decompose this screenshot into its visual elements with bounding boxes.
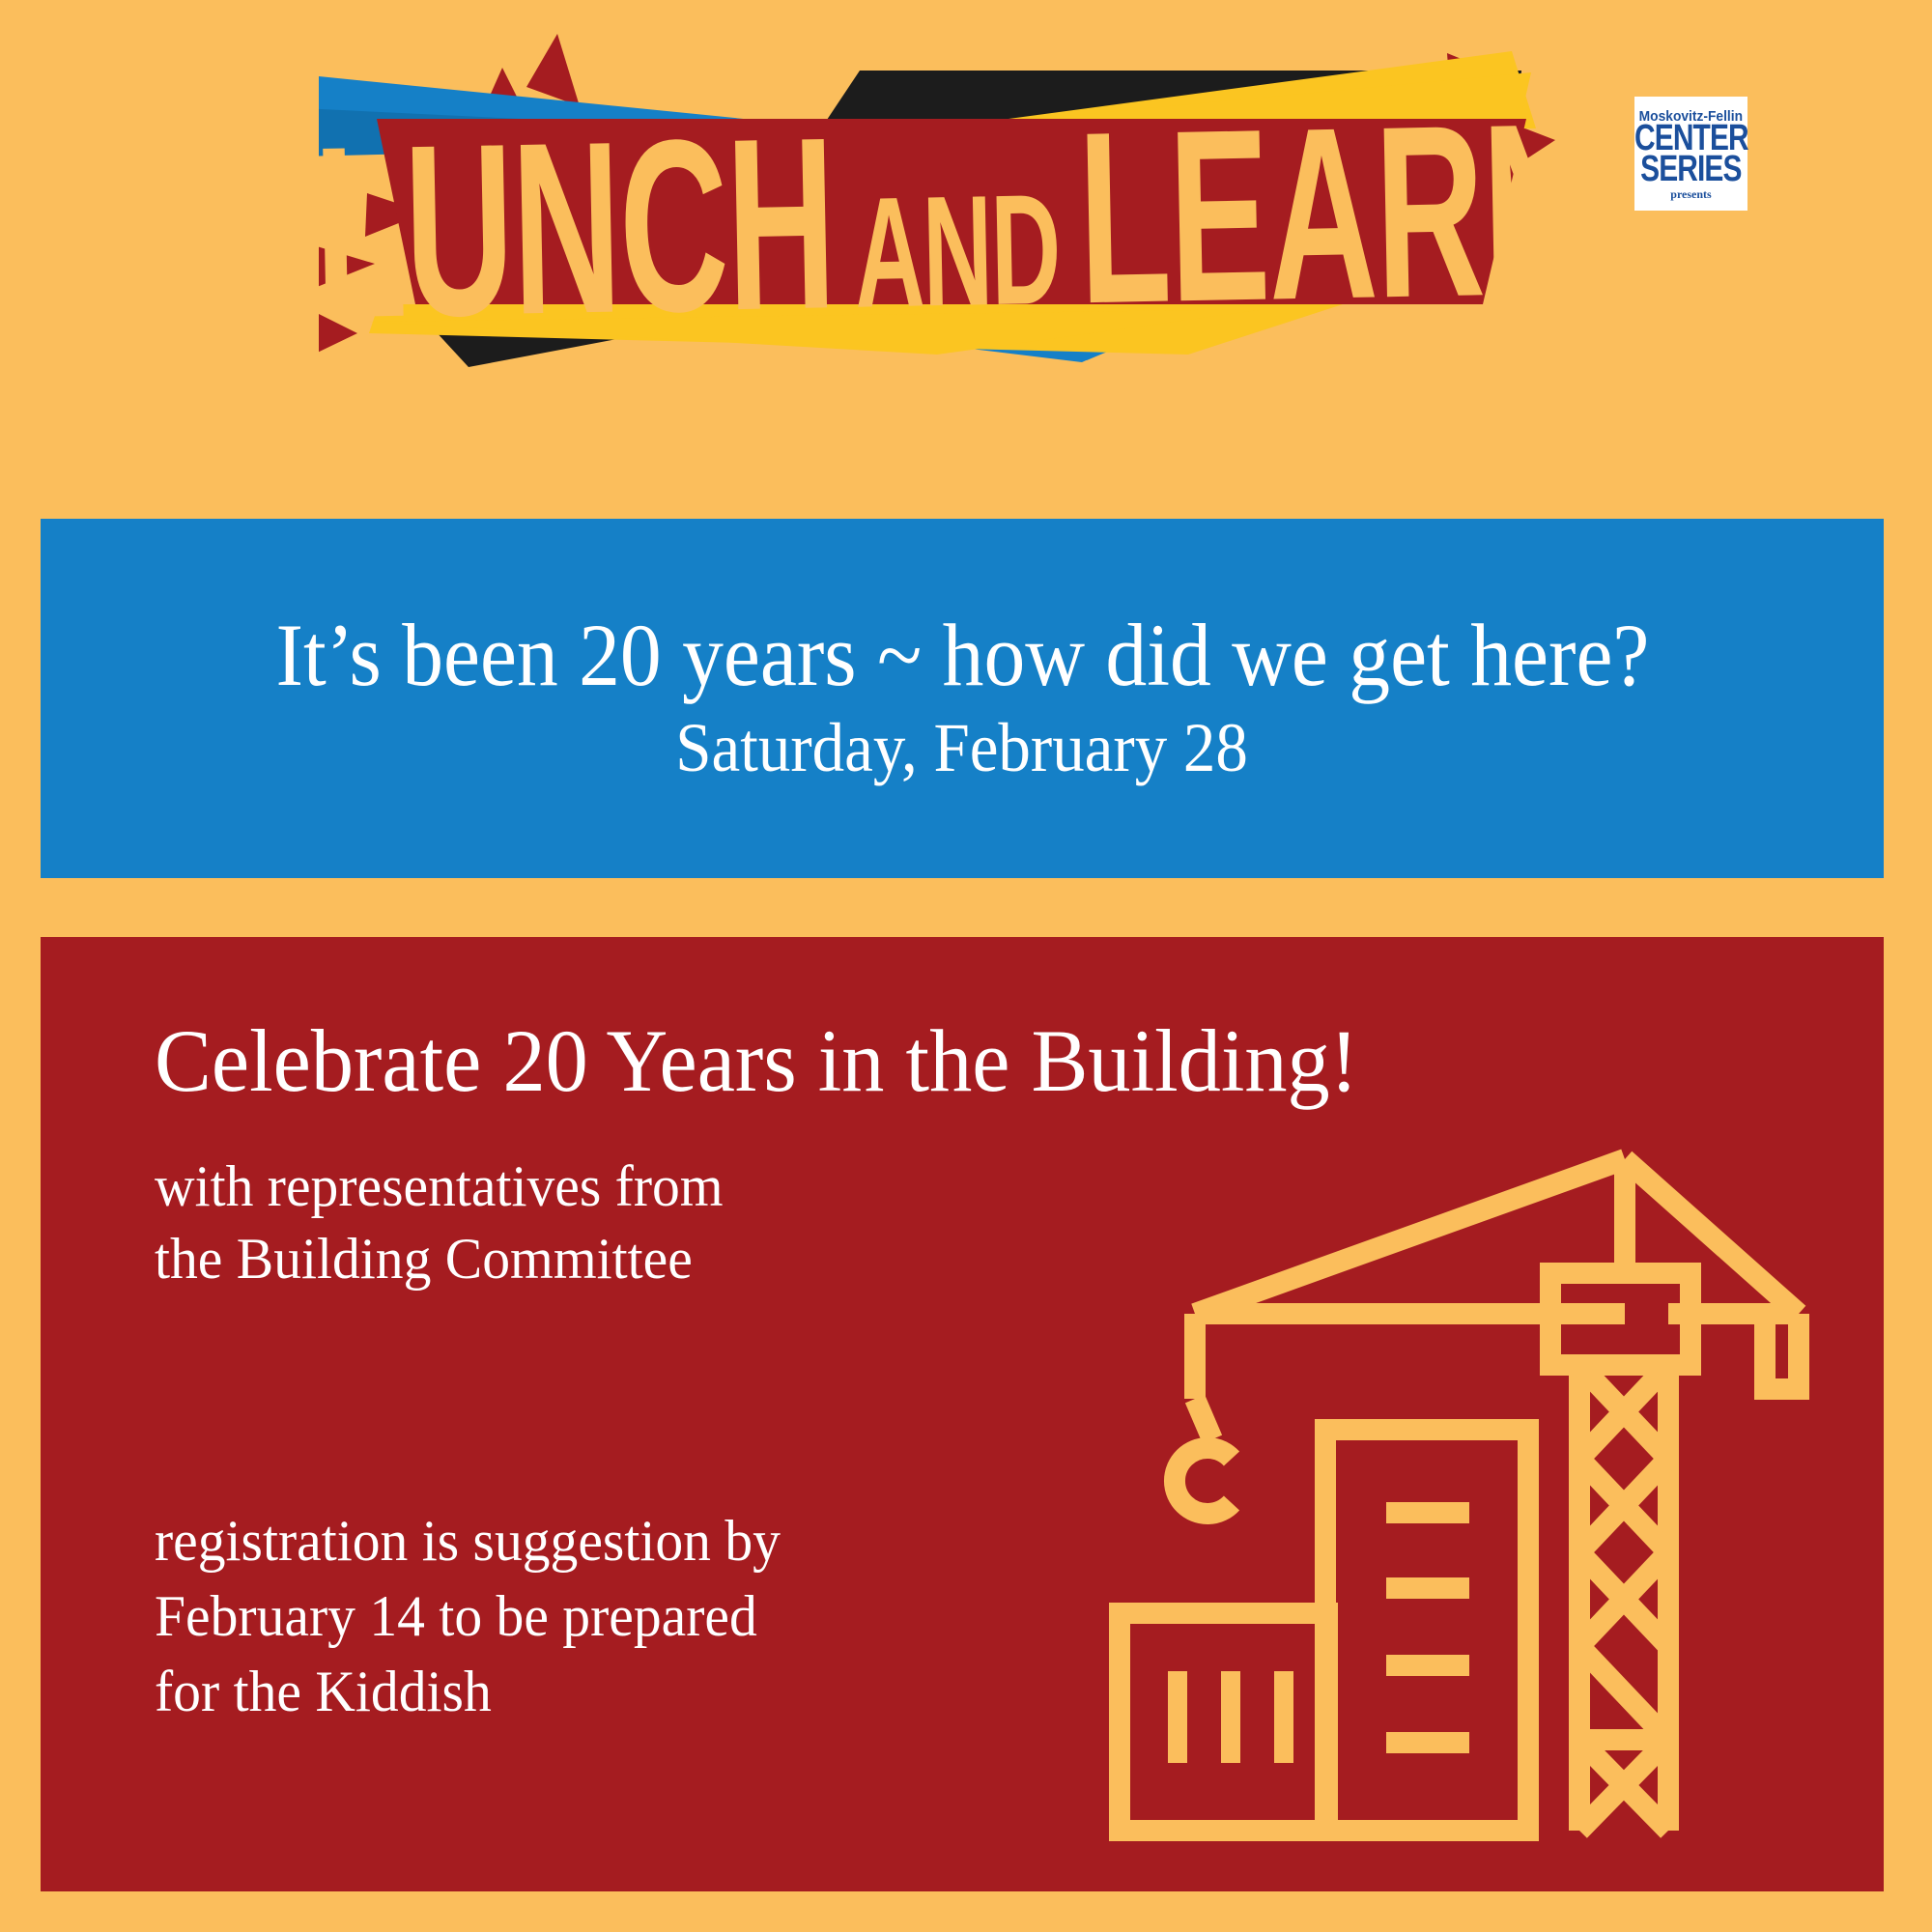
- registration-line2: February 14 to be prepared: [155, 1578, 1193, 1654]
- ribbon-shape: [377, 119, 1526, 304]
- registration-line3: for the Kiddish: [155, 1654, 1193, 1729]
- banner-graphic: [319, 14, 1584, 401]
- registration-note: registration is suggestion by February 1…: [155, 1503, 1193, 1729]
- registration-line1: registration is suggestion by: [155, 1503, 1193, 1578]
- logo-series-word: SERIES: [1640, 153, 1741, 186]
- event-headline: It’s been 20 years ~ how did we get here…: [275, 609, 1649, 702]
- tall-building-windows: [1386, 1502, 1469, 1753]
- event-details-copy: Celebrate 20 Years in the Building! with…: [155, 1014, 1236, 1295]
- construction-crane-icon: [1089, 1130, 1823, 1864]
- center-series-logo: Moskovitz-Fellin CENTER SERIES presents: [1634, 97, 1747, 211]
- event-details-block: Celebrate 20 Years in the Building! with…: [41, 937, 1884, 1891]
- short-building-windows: [1168, 1671, 1293, 1763]
- event-date: Saturday, February 28: [676, 708, 1249, 788]
- committee-subtext-line2: the Building Committee: [155, 1223, 1193, 1295]
- committee-subtext-line1: with representatives from: [155, 1151, 1193, 1223]
- logo-presents-word: presents: [1670, 188, 1711, 200]
- celebrate-heading: Celebrate 20 Years in the Building!: [155, 1014, 1193, 1108]
- header-banner: LUNCH AND LEARN Moskovitz-Fellin CENTER …: [0, 0, 1932, 507]
- committee-subtext: with representatives from the Building C…: [155, 1151, 1193, 1295]
- event-headline-band: It’s been 20 years ~ how did we get here…: [41, 519, 1884, 878]
